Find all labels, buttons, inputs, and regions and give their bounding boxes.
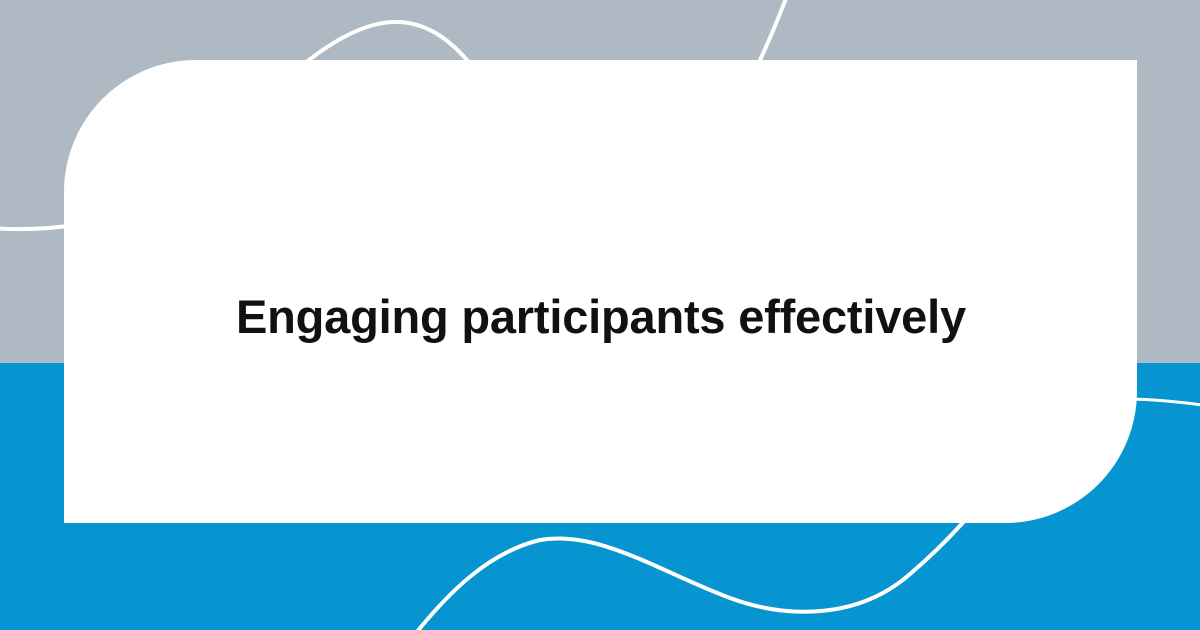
social-card-canvas: Engaging participants effectively	[0, 0, 1200, 630]
page-title: Engaging participants effectively	[236, 293, 966, 340]
